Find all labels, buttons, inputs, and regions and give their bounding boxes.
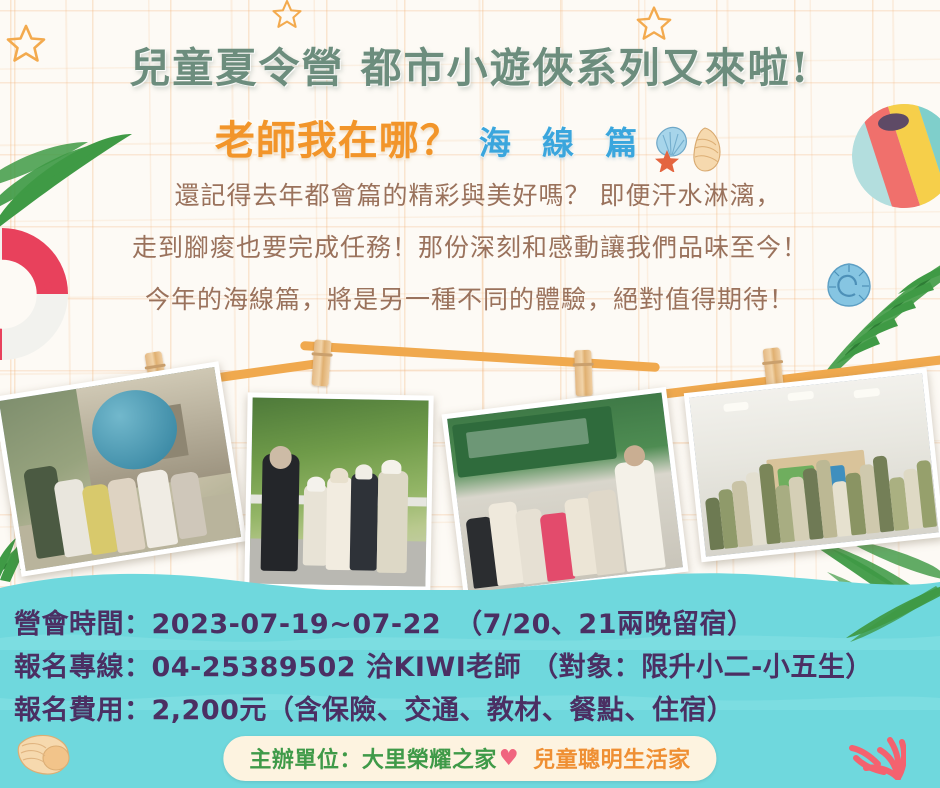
photo-collage [0,330,940,605]
clothes-peg-3 [574,350,593,397]
camp-dates-line: 營會時間：2023-07-19~07-22 （7/20、21兩晚留宿） [14,603,926,646]
description-line-3: 今年的海線篇，將是另一種不同的體驗，絕對值得期待！ [46,274,894,326]
organizer-label: 主辦單位：大里榮耀之家 [249,748,497,773]
photo-group-walking-with-guide [244,392,433,591]
registration-fee-line: 報名費用：2,200元（含保險、交通、教材、餐點、住宿） [14,689,926,732]
registration-phone-line: 報名專線：04-25389502 洽KIWI老師 （對象：限升小二-小五生） [14,646,926,689]
co-organizer-label: 兒童聰明生活家 [533,748,691,773]
hanging-string-2 [300,341,660,372]
poster-canvas: 兒童夏令營 都市小遊俠系列又來啦! 老師我在哪？海 線 篇 [0,0,940,788]
poster-main-title: 兒童夏令營 都市小遊俠系列又來啦! [0,34,940,94]
heart-icon: ♥ [499,746,519,771]
poster-subtitle: 老師我在哪？海 線 篇 [0,108,940,176]
poster-description: 還記得去年都會篇的精彩與美好嗎？ 即便汗水淋漓， 走到腳痠也要完成任務！那份深刻… [46,170,894,326]
photo-group-photo-with-banner [684,368,940,563]
description-line-1: 還記得去年都會篇的精彩與美好嗎？ 即便汗水淋漓， [46,170,894,222]
shell-cluster-icon [651,124,725,176]
subtitle-blue-text: 海 線 篇 [479,124,647,162]
clothes-peg-2 [311,339,331,386]
photo-kids-cheering-at-green-sign [442,387,689,599]
camp-info-block: 營會時間：2023-07-19~07-22 （7/20、21兩晚留宿） 報名專線… [14,603,926,732]
description-line-2: 走到腳痠也要完成任務！那份深刻和感動讓我們品味至今！ [46,222,894,274]
organizer-footer-pill: 主辦單位：大里榮耀之家♥兒童聰明生活家 [223,736,716,781]
photo-kids-playing-with-exercise-ball [0,361,247,576]
subtitle-orange-text: 老師我在哪？ [215,117,461,164]
